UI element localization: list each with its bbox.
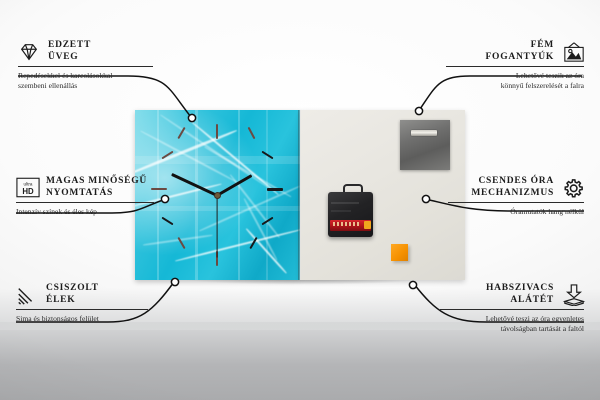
gear-icon [562,177,584,199]
callout-title-line1: EDZETT [48,40,91,52]
callout-title-line2: ÉLEK [46,295,99,307]
panel-edge-divider [298,110,301,280]
mechanism-ridge [331,202,359,204]
callout-magas-minosegu-nyomtatas[interactable]: ultra HD MAGAS MINŐSÉGŰ NYOMTATÁS Intenz… [16,176,154,217]
callout-habszivacs-alatet[interactable]: HABSZIVACS ALÁTÉT Lehetővé teszi az óra … [440,283,584,333]
callout-title-line1: HABSZIVACS [486,283,554,295]
diamond-icon [18,41,40,63]
callout-description: Lehetővé teszik az óra könnyű felszerelé… [446,71,584,90]
callout-csiszolt-elek[interactable]: CSISZOLT ÉLEK Sima és biztonságos felüle… [16,283,148,324]
callout-description: Repedésekkel és karcolásokkal szembeni e… [18,71,153,90]
callout-title-line2: NYOMTATÁS [46,188,147,200]
callout-rule [16,309,148,310]
product-wall-clock [135,110,465,280]
floor-surface [0,322,600,400]
clock-front-glass-panel [135,110,300,280]
metal-hanger-plate [400,120,450,170]
callout-rule [18,66,153,67]
callout-title-line1: FÉM [486,40,555,52]
clock-second-hand [216,196,217,258]
svg-text:ultra: ultra [24,181,33,186]
callout-description: Óramutatók hang nélkül [448,207,584,217]
callout-description: Sima és biztonságos felület [16,314,148,324]
callout-csendes-ora-mechanizmus[interactable]: CSENDES ÓRA MECHANIZMUS Óramutatók hang … [448,176,584,217]
foam-pad-arrow-icon [562,284,584,306]
callout-rule [448,202,584,203]
callout-title-line2: FOGANTYÚK [486,52,555,64]
callout-title-line1: MAGAS MINŐSÉGŰ [46,176,147,188]
orange-foam-spacer-pad [391,244,408,261]
product-infographic: EDZETT ÜVEG Repedésekkel és karcolásokka… [0,0,600,400]
callout-title-line1: CSENDES ÓRA [471,176,554,188]
callout-fem-fogantyuk[interactable]: FÉM FOGANTYÚK Lehetővé teszik az óra kön… [446,40,584,90]
callout-title-line2: ÜVEG [48,52,91,64]
callout-title-line2: MECHANIZMUS [471,188,554,200]
callout-rule [16,202,154,203]
callout-description: Intenzív színek és éles kép [16,207,154,217]
callout-description: Lehetővé teszi az óra egyenletes távolsá… [440,314,584,333]
clock-hour-hand [216,174,252,197]
callout-title-line1: CSISZOLT [46,283,99,295]
callout-rule [446,66,584,67]
mechanism-ridge-secondary [331,210,351,212]
battery-positive-terminal [364,221,371,229]
callout-title-line2: ALÁTÉT [486,295,554,307]
wall-hanger-frame-icon [562,41,584,63]
ultra-hd-icon: ultra HD [16,177,38,199]
callout-rule [440,309,584,310]
polished-edges-icon [16,284,38,306]
hanger-keyhole-slot [411,130,437,136]
battery-label-stripe [333,222,359,226]
svg-text:HD: HD [22,186,34,195]
clock-center-cap [214,192,221,199]
callout-edzett-uveg[interactable]: EDZETT ÜVEG Repedésekkel és karcolásokka… [18,40,153,90]
